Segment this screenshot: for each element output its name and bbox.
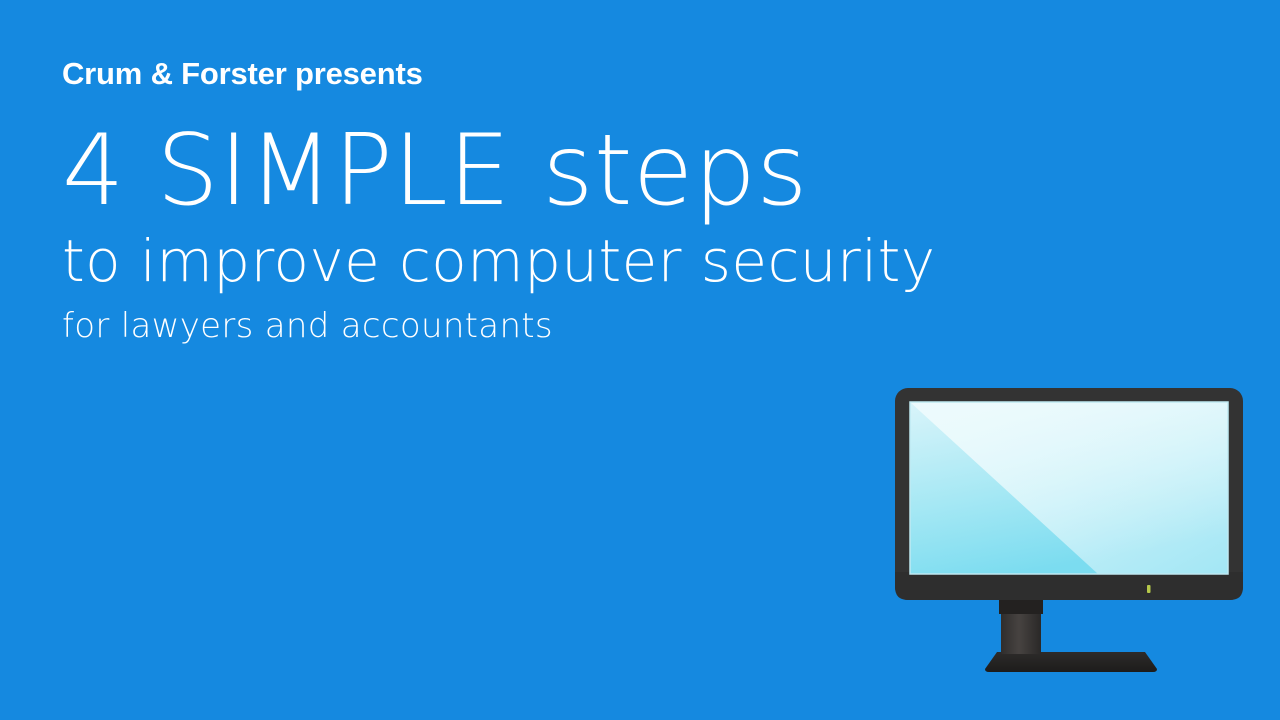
page-tagline: for lawyers and accountants [62,305,962,347]
monitor-icon [893,386,1245,686]
eyebrow-presenter-line: Crum & Forster presents [62,52,962,96]
slide-canvas: Crum & Forster presents 4 SIMPLE steps t… [0,0,1280,720]
page-title: 4 SIMPLE steps [62,121,962,221]
title-text-block: Crum & Forster presents 4 SIMPLE steps t… [62,52,962,347]
monitor-illustration [893,386,1245,686]
page-subtitle: to improve computer security [62,227,962,295]
monitor-stand-base [985,652,1157,672]
monitor-bezel-bottom [895,572,1243,600]
power-led-icon [1147,585,1151,593]
